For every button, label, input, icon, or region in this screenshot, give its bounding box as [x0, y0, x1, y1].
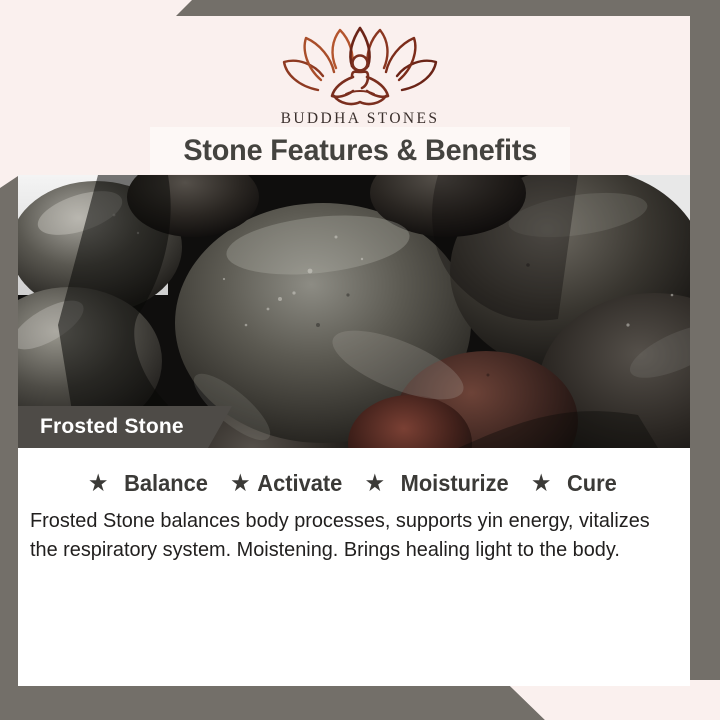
benefit-moisturize: Moisturize — [401, 470, 509, 496]
stone-description: Frosted Stone balances body processes, s… — [30, 506, 670, 564]
star-icon: ★ — [89, 472, 107, 495]
benefit-activate: Activate — [257, 470, 342, 496]
lotus-meditation-icon — [274, 24, 446, 108]
frame-corner-notch — [510, 686, 720, 720]
page-title: Stone Features & Benefits — [183, 134, 537, 168]
frame-band-right — [690, 0, 720, 720]
benefit-cure: Cure — [567, 470, 617, 496]
frame-band-top — [0, 0, 720, 16]
brand-logo: BUDDHA STONES — [0, 24, 720, 128]
brand-name: BUDDHA STONES — [0, 110, 720, 128]
benefits-list: ★ Balance ★ Activate ★ Moisturize ★ Cure — [35, 470, 673, 497]
benefit-balance: Balance — [124, 470, 208, 496]
infographic-card: BUDDHA STONES Stone Features & Benefits — [0, 0, 720, 720]
star-icon: ★ — [231, 472, 249, 495]
star-icon: ★ — [532, 472, 550, 495]
star-icon: ★ — [366, 472, 384, 495]
stone-name: Frosted Stone — [40, 415, 184, 439]
stone-name-banner: Frosted Stone — [0, 406, 232, 448]
page-title-band: Stone Features & Benefits — [150, 127, 570, 174]
